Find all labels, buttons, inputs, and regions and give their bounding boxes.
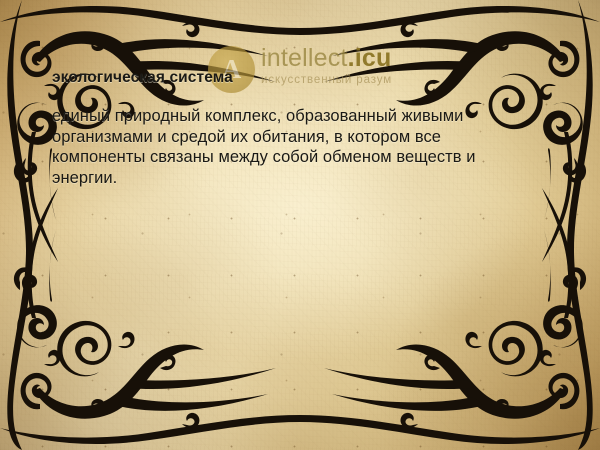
edge-left-ornament (7, 0, 37, 450)
corner-bottom-left-ornament (14, 188, 276, 419)
edge-right-ornament (563, 0, 593, 450)
parchment-card: A intellect.icu искусственный разум экол… (0, 0, 600, 450)
corner-bottom-right-ornament (324, 188, 586, 419)
definition-line: организмами и средой их обитания, в кото… (52, 127, 558, 148)
dictionary-entry: экологическая система единый природный к… (52, 68, 558, 188)
definition-line: энергии. (52, 168, 558, 189)
entry-definition: единый природный комплекс, образованный … (52, 106, 558, 188)
definition-line: единый природный комплекс, образованный … (52, 106, 558, 127)
definition-line: компоненты связаны между собой обменом в… (52, 147, 558, 168)
entry-term: экологическая система (52, 68, 558, 88)
